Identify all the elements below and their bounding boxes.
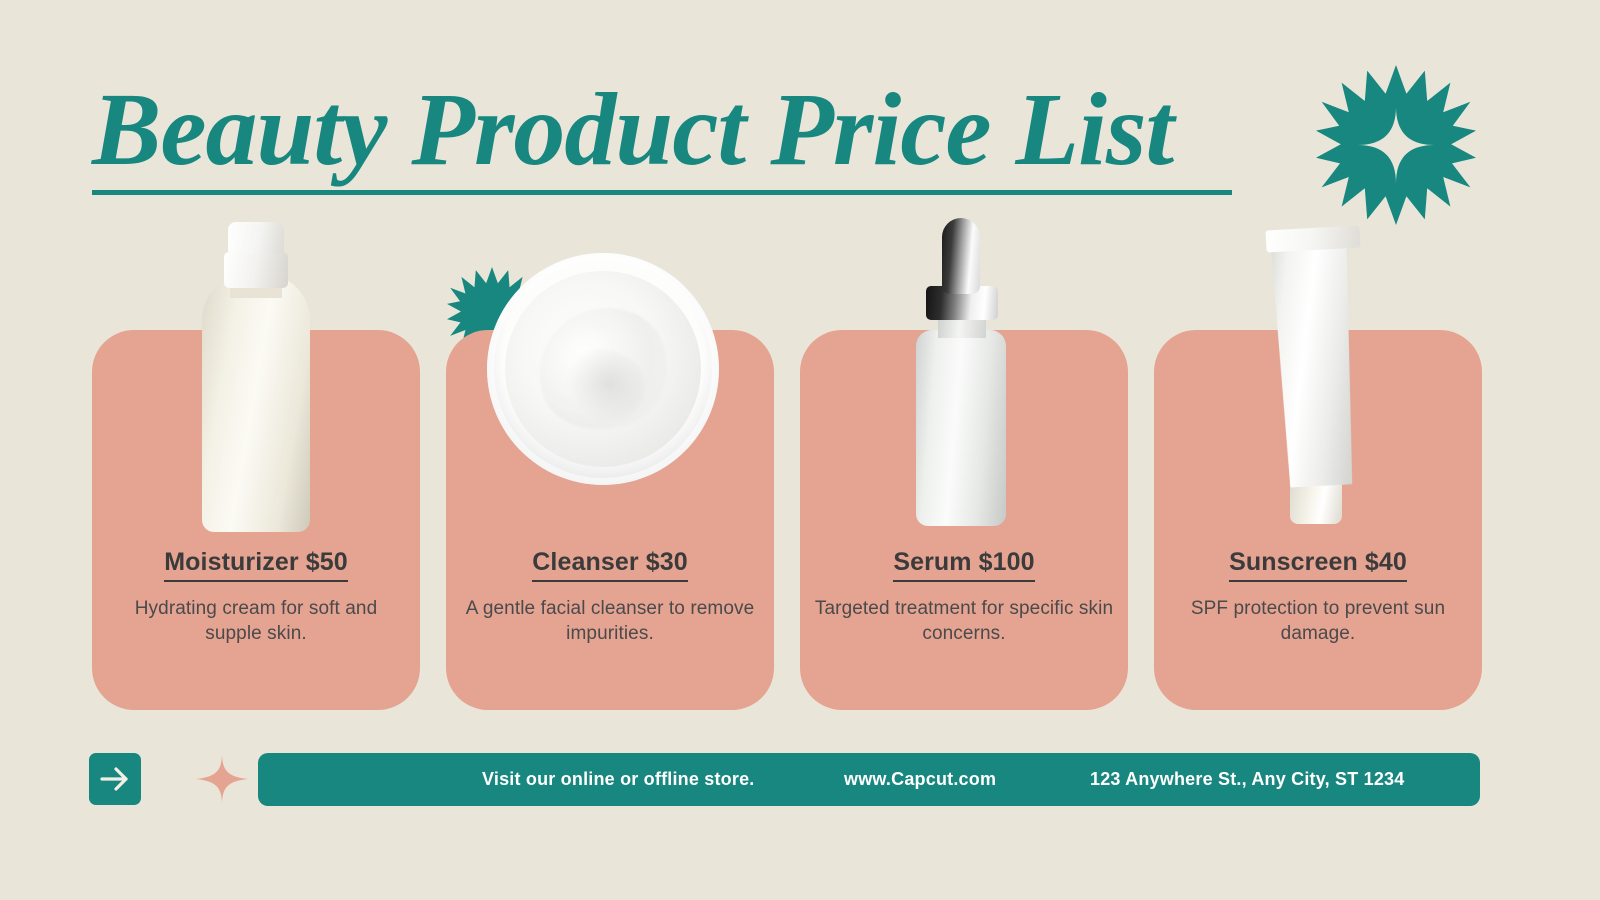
product-card-text: Cleanser $30 A gentle facial cleanser to… [446, 548, 774, 646]
product-title: Moisturizer $50 [164, 548, 348, 582]
sparkle-icon [196, 752, 248, 806]
arrow-right-icon [100, 766, 130, 792]
product-description: A gentle facial cleanser to remove impur… [458, 596, 762, 646]
product-card-sunscreen[interactable]: Sunscreen $40 SPF protection to prevent … [1154, 330, 1482, 710]
product-card-serum[interactable]: Serum $100 Targeted treatment for specif… [800, 330, 1128, 710]
poster-canvas: Beauty Product Price List Moisturizer $5… [0, 0, 1600, 900]
tube-seal [1265, 226, 1360, 253]
product-description: Targeted treatment for specific skin con… [812, 596, 1116, 646]
dropper-bulb [942, 218, 980, 294]
arrow-right-button[interactable] [89, 753, 141, 805]
page-title-text: Beauty Product Price List [92, 78, 1242, 182]
title-underline-rule [92, 190, 1232, 195]
bottle-cap-lower [224, 252, 288, 288]
footer-website-link[interactable]: www.Capcut.com [844, 769, 996, 790]
product-title: Sunscreen $40 [1229, 548, 1407, 582]
product-card-text: Serum $100 Targeted treatment for specif… [800, 548, 1128, 646]
bottle-neck [230, 284, 282, 298]
product-card-list: Moisturizer $50 Hydrating cream for soft… [92, 330, 1482, 710]
product-description: SPF protection to prevent sun damage. [1166, 596, 1470, 646]
product-title: Cleanser $30 [532, 548, 687, 582]
product-title: Serum $100 [893, 548, 1034, 582]
dropper-collar [926, 286, 998, 320]
product-card-moisturizer[interactable]: Moisturizer $50 Hydrating cream for soft… [92, 330, 420, 710]
product-card-text: Moisturizer $50 Hydrating cream for soft… [92, 548, 420, 646]
bottle-cap-upper [228, 222, 284, 254]
footer-address-text: 123 Anywhere St., Any City, ST 1234 [1090, 769, 1404, 790]
product-description: Hydrating cream for soft and supple skin… [104, 596, 408, 646]
footer-bar: Visit our online or offline store. www.C… [258, 753, 1480, 806]
footer-cta-text: Visit our online or offline store. [482, 769, 755, 790]
product-card-text: Sunscreen $40 SPF protection to prevent … [1154, 548, 1482, 646]
starburst-icon [1316, 65, 1476, 225]
page-title: Beauty Product Price List [92, 78, 1242, 195]
product-card-cleanser[interactable]: Cleanser $30 A gentle facial cleanser to… [446, 330, 774, 710]
